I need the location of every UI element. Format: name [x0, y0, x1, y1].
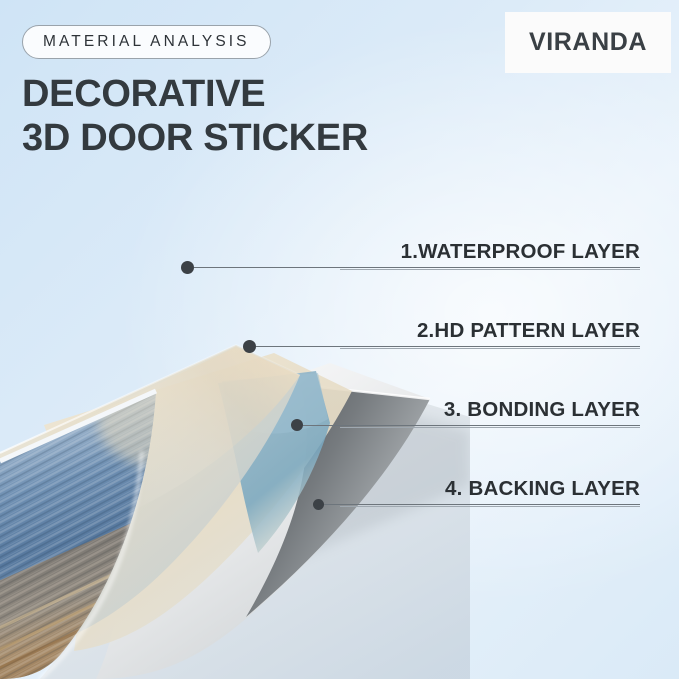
callout-label-2: 2.HD PATTERN LAYER [340, 319, 640, 348]
title-line-2: 3D DOOR STICKER [22, 116, 368, 160]
callout-hd-pattern: 2.HD PATTERN LAYER [340, 319, 640, 349]
title-line-1: DECORATIVE [22, 72, 368, 116]
brand-logo-panel: VIRANDA [505, 12, 671, 73]
brand-name: VIRANDA [529, 28, 647, 57]
infographic-canvas: 1.WATERPROOF LAYER 2.HD PATTERN LAYER 3.… [0, 0, 679, 679]
callout-rule-3 [340, 427, 640, 428]
callout-label-3: 3. BONDING LAYER [340, 398, 640, 427]
callout-rule-1 [340, 269, 640, 270]
callout-dot-3 [291, 419, 303, 431]
material-analysis-badge: MATERIAL ANALYSIS [22, 25, 271, 59]
badge-label: MATERIAL ANALYSIS [43, 33, 250, 51]
callout-backing: 4. BACKING LAYER [340, 477, 640, 507]
callout-dot-1 [181, 261, 194, 274]
callout-dot-4 [313, 499, 324, 510]
callout-rule-4 [340, 506, 640, 507]
callout-waterproof: 1.WATERPROOF LAYER [340, 240, 640, 270]
callout-rule-2 [340, 348, 640, 349]
page-title: DECORATIVE 3D DOOR STICKER [22, 72, 368, 160]
callout-dot-2 [243, 340, 256, 353]
callout-label-1: 1.WATERPROOF LAYER [340, 240, 640, 269]
callout-label-4: 4. BACKING LAYER [340, 477, 640, 506]
callout-bonding: 3. BONDING LAYER [340, 398, 640, 428]
